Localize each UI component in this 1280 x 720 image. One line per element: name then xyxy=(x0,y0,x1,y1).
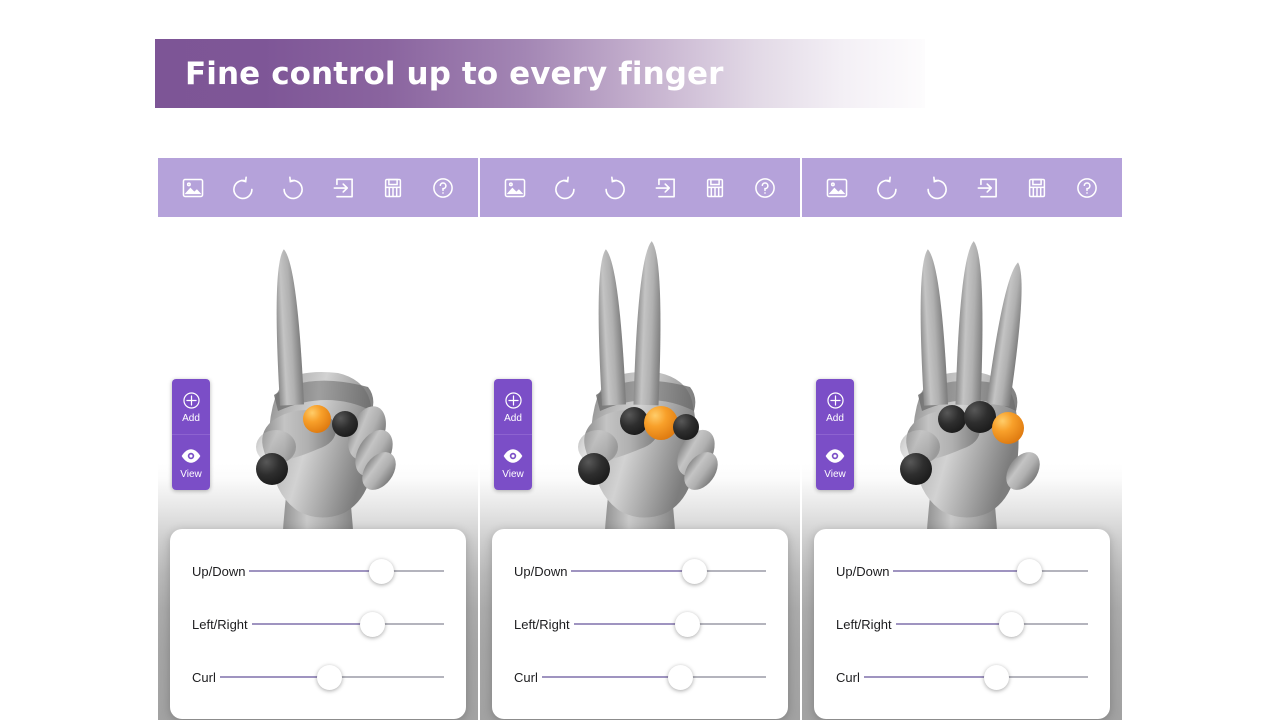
view-button[interactable]: View xyxy=(816,434,854,490)
slider-handle[interactable] xyxy=(984,665,1009,690)
image-icon[interactable] xyxy=(500,173,530,203)
slider-row: Up/Down xyxy=(836,549,1088,593)
slider-label: Left/Right xyxy=(514,617,570,632)
slider-track[interactable] xyxy=(864,667,1088,687)
slider-track[interactable] xyxy=(220,667,444,687)
slider-row: Curl xyxy=(514,655,766,699)
save-icon[interactable] xyxy=(700,173,730,203)
redo-icon[interactable] xyxy=(600,173,630,203)
app-root: Fine control up to every finger Add View… xyxy=(0,0,1280,720)
save-icon[interactable] xyxy=(1022,173,1052,203)
slider-row: Left/Right xyxy=(192,602,444,646)
slider-label: Curl xyxy=(192,670,216,685)
slider-track[interactable] xyxy=(249,561,444,581)
slider-label: Up/Down xyxy=(836,564,889,579)
slider-row: Left/Right xyxy=(514,602,766,646)
view-button-label: View xyxy=(824,469,846,480)
slider-row: Curl xyxy=(836,655,1088,699)
plus-circle-icon xyxy=(181,390,202,411)
slider-label: Up/Down xyxy=(192,564,245,579)
joint-marker[interactable] xyxy=(578,453,610,485)
toolbar xyxy=(158,158,478,217)
joint-marker[interactable] xyxy=(964,401,996,433)
tool-rail: Add View xyxy=(494,379,532,490)
joint-marker[interactable] xyxy=(673,414,699,440)
slider-track[interactable] xyxy=(574,614,766,634)
save-icon[interactable] xyxy=(378,173,408,203)
view-button[interactable]: View xyxy=(172,434,210,490)
joint-marker[interactable] xyxy=(332,411,358,437)
slider-track-fill xyxy=(893,570,1029,572)
joint-marker-active[interactable] xyxy=(303,405,331,433)
finger-control-panel: Up/DownLeft/RightCurl xyxy=(492,529,788,719)
joint-marker-active[interactable] xyxy=(992,412,1024,444)
help-icon[interactable] xyxy=(750,173,780,203)
view-button-label: View xyxy=(180,469,202,480)
slider-label: Left/Right xyxy=(836,617,892,632)
slider-handle[interactable] xyxy=(1017,559,1042,584)
panel-one-finger: Add ViewUp/DownLeft/RightCurl xyxy=(158,158,478,720)
slider-label: Curl xyxy=(836,670,860,685)
panel-two-fingers: Add ViewUp/DownLeft/RightCurl xyxy=(480,158,800,720)
import-icon[interactable] xyxy=(650,173,680,203)
plus-circle-icon xyxy=(503,390,524,411)
slider-handle[interactable] xyxy=(360,612,385,637)
slider-handle[interactable] xyxy=(668,665,693,690)
joint-marker[interactable] xyxy=(900,453,932,485)
slider-label: Curl xyxy=(514,670,538,685)
joint-marker-active[interactable] xyxy=(644,406,678,440)
slider-track-fill xyxy=(896,623,1011,625)
view-button[interactable]: View xyxy=(494,434,532,490)
slider-handle[interactable] xyxy=(675,612,700,637)
add-button[interactable]: Add xyxy=(172,379,210,434)
add-button[interactable]: Add xyxy=(816,379,854,434)
slider-track[interactable] xyxy=(893,561,1088,581)
undo-icon[interactable] xyxy=(872,173,902,203)
header-banner: Fine control up to every finger xyxy=(155,39,925,108)
redo-icon[interactable] xyxy=(278,173,308,203)
slider-track-fill xyxy=(252,623,373,625)
joint-marker[interactable] xyxy=(938,405,966,433)
slider-track[interactable] xyxy=(252,614,444,634)
view-button-label: View xyxy=(502,469,524,480)
slider-handle[interactable] xyxy=(317,665,342,690)
panel-three-fingers: Add ViewUp/DownLeft/RightCurl xyxy=(802,158,1122,720)
tool-rail: Add View xyxy=(172,379,210,490)
toolbar xyxy=(802,158,1122,217)
undo-icon[interactable] xyxy=(550,173,580,203)
slider-track[interactable] xyxy=(896,614,1088,634)
slider-track[interactable] xyxy=(571,561,766,581)
slider-row: Curl xyxy=(192,655,444,699)
slider-track-fill xyxy=(542,676,681,678)
eye-icon xyxy=(824,445,846,467)
joint-marker[interactable] xyxy=(256,453,288,485)
redo-icon[interactable] xyxy=(922,173,952,203)
undo-icon[interactable] xyxy=(228,173,258,203)
slider-track[interactable] xyxy=(542,667,766,687)
help-icon[interactable] xyxy=(428,173,458,203)
add-button-label: Add xyxy=(504,413,522,424)
joint-marker[interactable] xyxy=(620,407,648,435)
slider-row: Up/Down xyxy=(514,549,766,593)
slider-track-fill xyxy=(220,676,330,678)
slider-label: Up/Down xyxy=(514,564,567,579)
add-button-label: Add xyxy=(826,413,844,424)
eye-icon xyxy=(502,445,524,467)
slider-handle[interactable] xyxy=(682,559,707,584)
slider-label: Left/Right xyxy=(192,617,248,632)
import-icon[interactable] xyxy=(328,173,358,203)
slider-handle[interactable] xyxy=(999,612,1024,637)
eye-icon xyxy=(180,445,202,467)
page-title: Fine control up to every finger xyxy=(185,56,724,92)
slider-track-fill xyxy=(249,570,381,572)
add-button-label: Add xyxy=(182,413,200,424)
finger-control-panel: Up/DownLeft/RightCurl xyxy=(814,529,1110,719)
slider-row: Left/Right xyxy=(836,602,1088,646)
slider-row: Up/Down xyxy=(192,549,444,593)
help-icon[interactable] xyxy=(1072,173,1102,203)
toolbar xyxy=(480,158,800,217)
slider-track-fill xyxy=(571,570,694,572)
import-icon[interactable] xyxy=(972,173,1002,203)
finger-control-panel: Up/DownLeft/RightCurl xyxy=(170,529,466,719)
tool-rail: Add View xyxy=(816,379,854,490)
plus-circle-icon xyxy=(825,390,846,411)
slider-handle[interactable] xyxy=(369,559,394,584)
add-button[interactable]: Add xyxy=(494,379,532,434)
image-icon[interactable] xyxy=(822,173,852,203)
slider-track-fill xyxy=(864,676,996,678)
slider-track-fill xyxy=(574,623,687,625)
image-icon[interactable] xyxy=(178,173,208,203)
